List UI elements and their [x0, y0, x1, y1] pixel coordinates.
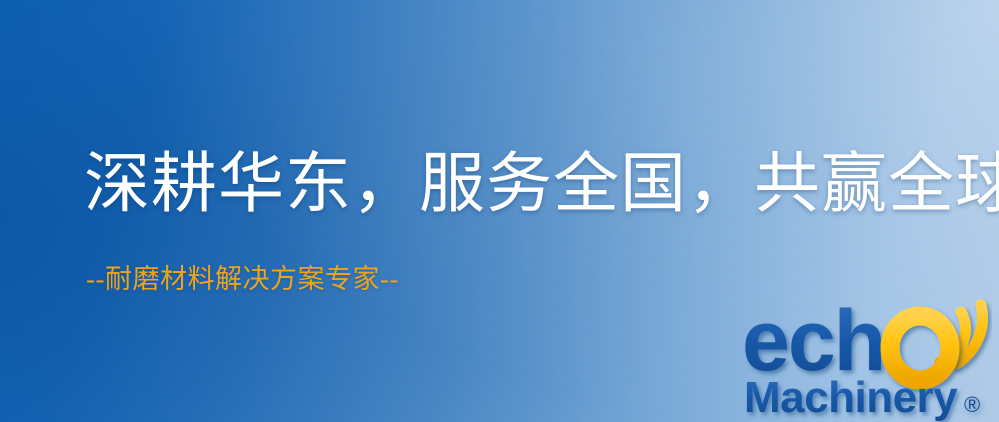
logo-wordmark-o	[890, 316, 950, 380]
logo-brandline: Machinery ®	[744, 373, 980, 422]
banner-headline: 深耕华东，服务全国，共赢全球	[84, 152, 999, 218]
svg-text:®: ®	[964, 392, 980, 417]
promo-banner: 深耕华东，服务全国，共赢全球 --耐磨材料解决方案专家--	[0, 0, 999, 422]
svg-text:Machinery: Machinery	[744, 373, 958, 422]
echo-machinery-logo[interactable]: ech Machinery ®	[742, 296, 992, 422]
banner-subtitle: --耐磨材料解决方案专家--	[86, 266, 399, 293]
